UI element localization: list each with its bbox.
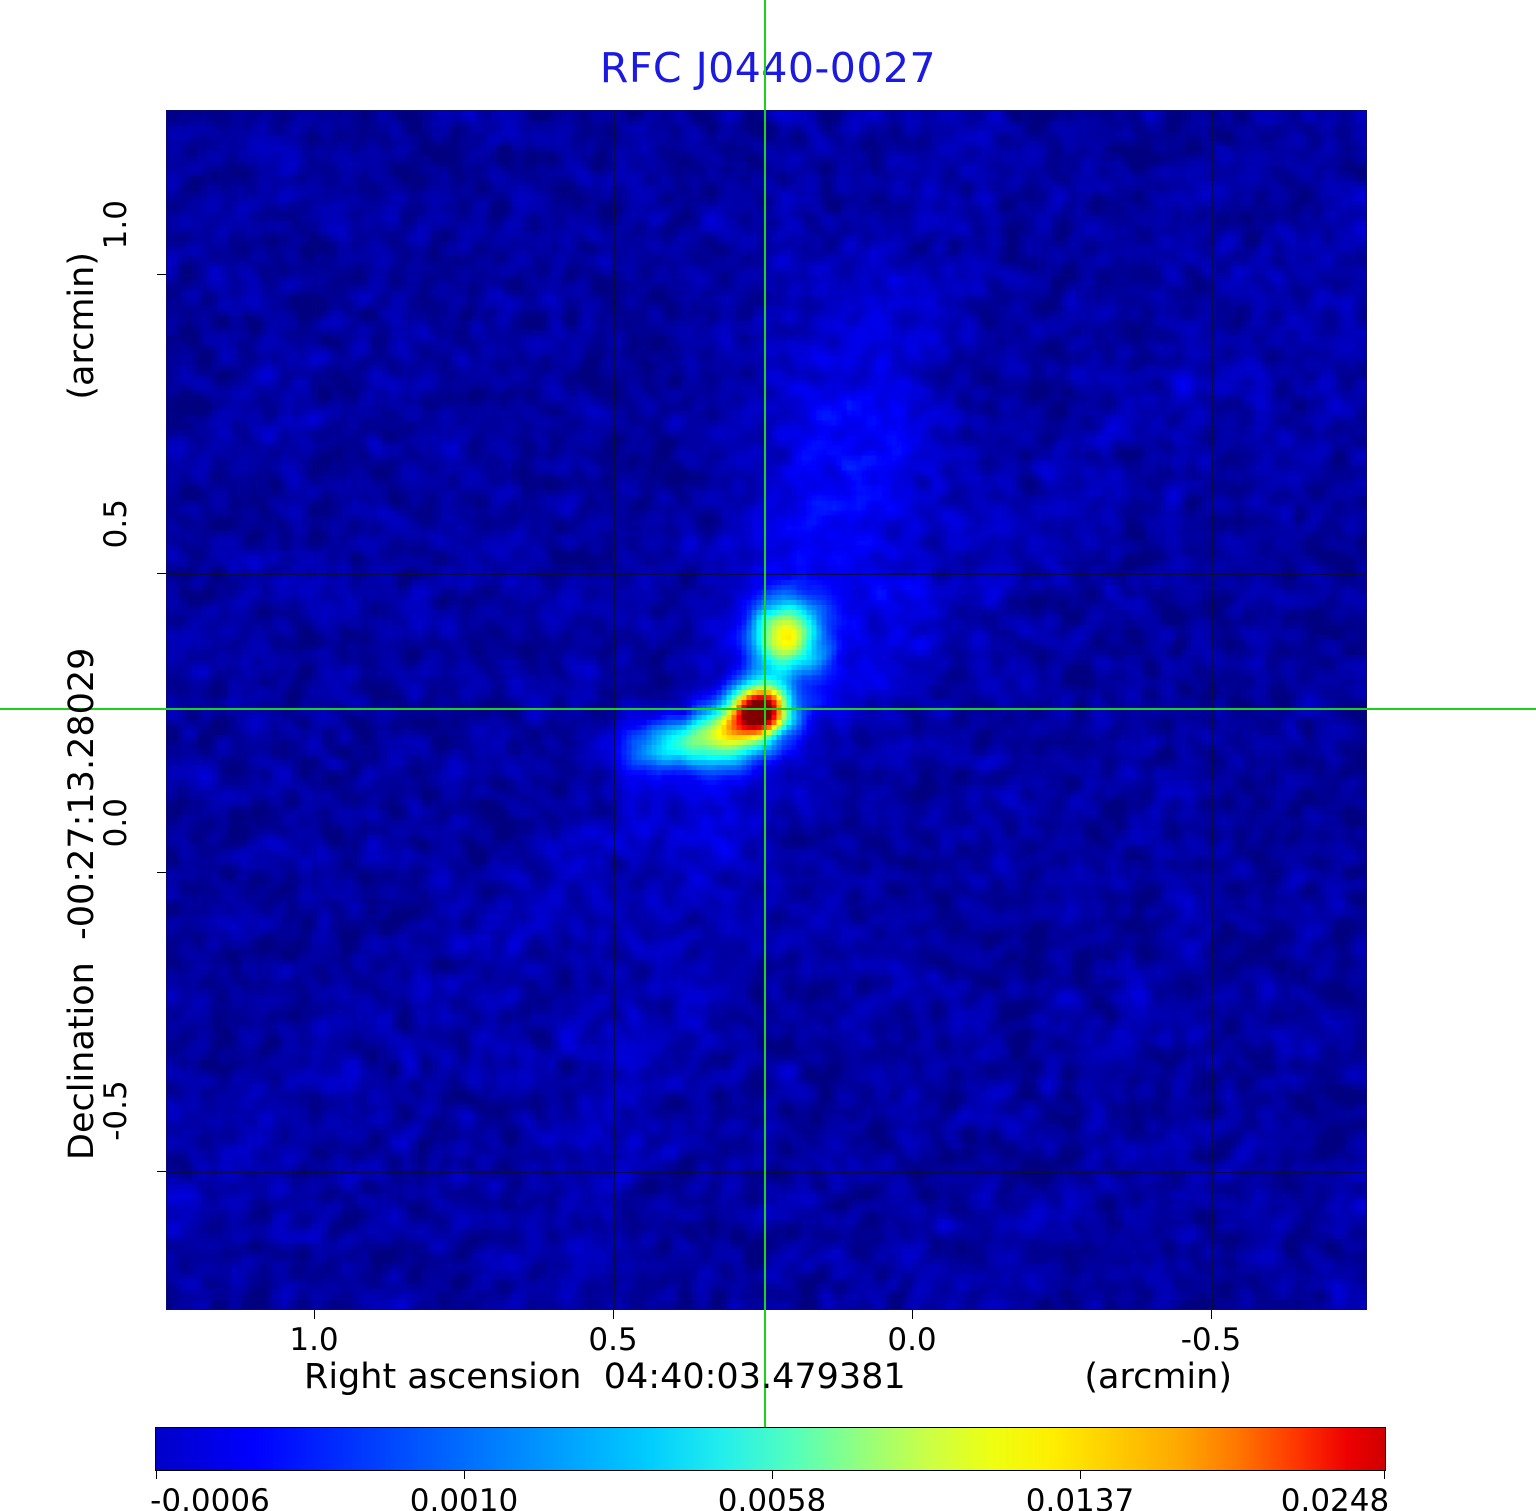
x-axis-tick xyxy=(1211,1310,1212,1319)
x-axis-label-name: Right ascension xyxy=(304,1357,582,1397)
colorbar-tick xyxy=(156,1471,157,1479)
colorbar[interactable]: -0.0006 0.0010 0.0058 0.0137 0.0248 xyxy=(155,1427,1386,1471)
gridline-vertical xyxy=(315,111,316,1309)
x-axis-tick xyxy=(613,1310,614,1319)
colorbar-tick xyxy=(1384,1471,1385,1479)
colorbar-tick-label: 0.0010 xyxy=(410,1483,518,1511)
x-axis-tick-label: -0.5 xyxy=(1181,1322,1242,1358)
gridline-horizontal xyxy=(167,1172,1366,1173)
colorbar-tick xyxy=(772,1471,773,1479)
x-axis-tick xyxy=(912,1310,913,1319)
colorbar-tick xyxy=(464,1471,465,1479)
x-axis-tick-label: 0.0 xyxy=(887,1322,936,1358)
y-axis-unit: (arcmin) xyxy=(62,252,102,400)
x-axis-label: Right ascension 04:40:03.479381 (arcmin) xyxy=(166,1357,1367,1397)
x-axis-unit: (arcmin) xyxy=(1084,1357,1232,1397)
y-axis-tick xyxy=(157,1171,166,1172)
colorbar-tick-label: 0.0248 xyxy=(1281,1483,1389,1511)
radio-image-viewer: RFC J0440-0027 1.0 0.5 0.0 -0.5 1.0 0.5 … xyxy=(0,0,1536,1511)
crosshair-horizontal-line xyxy=(0,708,1536,710)
gridline-vertical xyxy=(913,111,914,1309)
page-title: RFC J0440-0027 xyxy=(0,44,1536,92)
sky-image-canvas[interactable] xyxy=(167,111,1366,1309)
x-axis-label-text: Right ascension 04:40:03.479381 xyxy=(304,1357,906,1397)
x-axis-tick xyxy=(314,1310,315,1319)
crosshair-vertical-line xyxy=(764,0,766,1457)
colorbar-tick-label: -0.0006 xyxy=(150,1483,270,1511)
y-axis-label-text: Declination -00:27:13.28029 xyxy=(62,648,102,1160)
y-axis-tick xyxy=(157,274,166,275)
gridline-vertical xyxy=(1212,111,1213,1309)
x-axis-coordinate: 04:40:03.479381 xyxy=(604,1357,906,1397)
colorbar-tick-label: 0.0058 xyxy=(718,1483,826,1511)
y-axis-coordinate: -00:27:13.28029 xyxy=(62,648,102,940)
gridline-vertical xyxy=(614,111,615,1309)
y-axis-label-name: Declination xyxy=(62,962,102,1160)
x-axis-tick-label: 1.0 xyxy=(289,1322,338,1358)
colorbar-gradient[interactable] xyxy=(155,1427,1386,1471)
gridline-horizontal xyxy=(167,275,1366,276)
y-axis-tick xyxy=(157,573,166,574)
colorbar-tick xyxy=(1080,1471,1081,1479)
sky-image-panel[interactable] xyxy=(166,110,1367,1310)
x-axis-tick-label: 0.5 xyxy=(588,1322,637,1358)
gridline-horizontal xyxy=(167,873,1366,874)
y-axis-tick xyxy=(157,872,166,873)
y-axis-label: Declination -00:27:13.28029 (arcmin) xyxy=(60,110,104,1310)
gridline-horizontal xyxy=(167,574,1366,575)
colorbar-tick-label: 0.0137 xyxy=(1026,1483,1134,1511)
